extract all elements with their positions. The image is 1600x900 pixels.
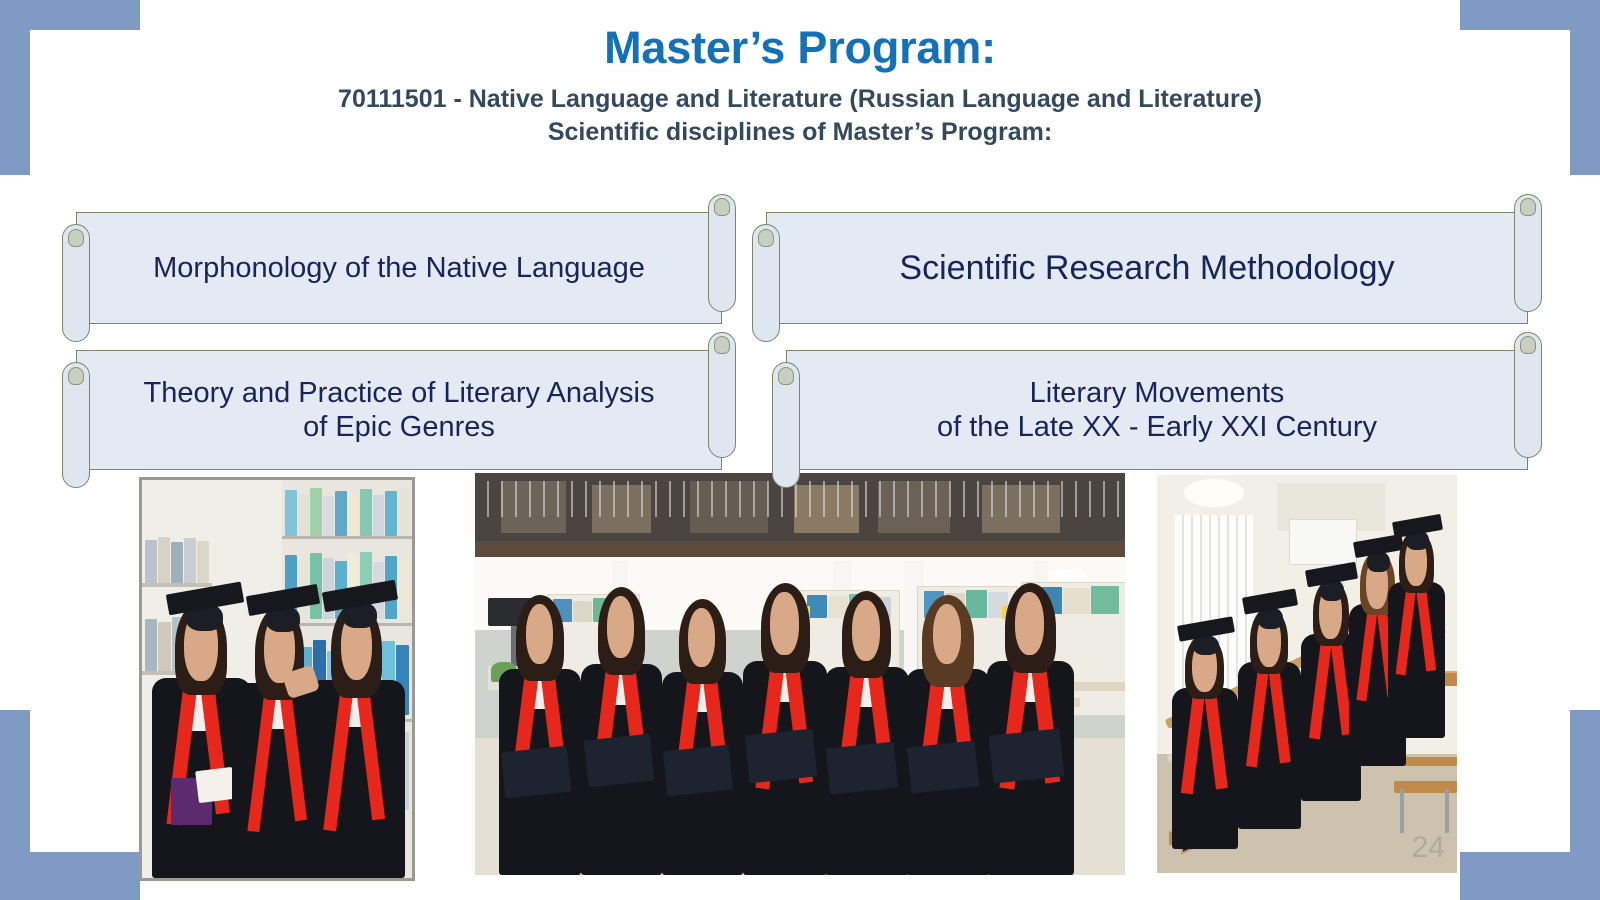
- photo-inner: 24: [1157, 475, 1457, 873]
- corner-bracket-bottom-right: [1460, 710, 1600, 900]
- bracket-bar-vertical: [0, 710, 30, 900]
- scroll-roll-right-icon: [1514, 194, 1542, 312]
- graduate-figure: [742, 578, 830, 875]
- graduate-figure: [904, 590, 992, 875]
- graduate-figure: [498, 590, 583, 875]
- held-mortarboard: [663, 745, 733, 797]
- graduate-figure: [660, 594, 745, 875]
- mortarboard-cap: [323, 582, 397, 628]
- scroll-roll-right-icon: [1514, 332, 1542, 458]
- face: [852, 600, 880, 661]
- graduate-figure: [1169, 618, 1241, 849]
- graduate-figure: [579, 582, 664, 875]
- bench-leg: [1400, 789, 1404, 833]
- mortarboard-cap: [1178, 618, 1234, 655]
- discipline-box-body: Literary Movementsof the Late XX - Early…: [786, 350, 1528, 470]
- shelf-board: [282, 536, 412, 539]
- program-code-subtitle: 70111501 - Native Language and Literatur…: [150, 83, 1450, 116]
- books-row: [145, 536, 210, 584]
- academic-gown: [1238, 662, 1301, 829]
- corner-bracket-top-right: [1460, 0, 1600, 175]
- scroll-roll-right-icon: [708, 332, 736, 458]
- mortarboard-cap: [1243, 590, 1297, 628]
- books-row: [285, 488, 409, 536]
- discipline-label: Scientific Research Methodology: [883, 248, 1410, 288]
- corner-bracket-top-left: [0, 0, 140, 175]
- graduate-figure: [985, 578, 1076, 875]
- corner-bracket-bottom-left: [0, 710, 140, 900]
- academic-gown: [1388, 582, 1446, 738]
- title-block: Master’s Program: 70111501 - Native Lang…: [150, 24, 1450, 149]
- discipline-box-body: Morphonology of the Native Language: [76, 212, 722, 324]
- held-mortarboard: [583, 734, 653, 788]
- graduate-figure: [304, 587, 409, 878]
- graduate-figure: [823, 586, 911, 875]
- face: [770, 592, 798, 654]
- bracket-bar-vertical: [0, 0, 30, 175]
- held-mortarboard: [744, 729, 817, 783]
- face: [526, 604, 553, 664]
- face: [688, 608, 715, 667]
- face: [933, 604, 961, 664]
- discipline-box-morphonology[interactable]: Morphonology of the Native Language: [62, 212, 736, 324]
- held-mortarboard: [988, 729, 1064, 784]
- scroll-roll-left-icon: [62, 224, 90, 342]
- discipline-box-literary-movements[interactable]: Literary Movementsof the Late XX - Early…: [772, 350, 1542, 470]
- scroll-roll-right-icon: [708, 194, 736, 312]
- photo-graduates-library-atrium: [475, 473, 1125, 875]
- held-mortarboard: [826, 741, 899, 794]
- held-mortarboard: [907, 740, 980, 793]
- balcony-railing: [475, 481, 1125, 517]
- graduate-figure: [1235, 590, 1304, 829]
- discipline-label: Morphonology of the Native Language: [137, 251, 661, 285]
- discipline-box-research-methodology[interactable]: Scientific Research Methodology: [752, 212, 1542, 324]
- scroll-roll-left-icon: [752, 224, 780, 342]
- section-label: Scientific disciplines of Master’s Progr…: [150, 116, 1450, 149]
- graduate-figure: [1385, 515, 1448, 738]
- photo-inner: [142, 480, 412, 878]
- scroll-roll-left-icon: [62, 362, 90, 488]
- ceiling-lamp: [1184, 479, 1244, 507]
- bracket-bar-vertical: [1570, 710, 1600, 900]
- academic-gown: [1172, 688, 1238, 850]
- photo-graduates-library-shelves: [139, 477, 415, 881]
- page-title: Master’s Program:: [150, 24, 1450, 71]
- bench-leg: [1445, 789, 1449, 833]
- mortarboard-cap: [1393, 515, 1442, 551]
- photo-inner: [475, 473, 1125, 875]
- held-mortarboard: [501, 746, 571, 798]
- slide-number: 24: [1412, 831, 1445, 865]
- discipline-label: Literary Movementsof the Late XX - Early…: [921, 376, 1393, 444]
- discipline-label: Theory and Practice of Literary Analysis…: [128, 376, 671, 444]
- slide-canvas: Master’s Program: 70111501 - Native Lang…: [0, 0, 1600, 900]
- face: [607, 596, 634, 658]
- scroll-roll-left-icon: [772, 362, 800, 488]
- cap-board: [1392, 513, 1443, 537]
- discipline-box-literary-analysis[interactable]: Theory and Practice of Literary Analysis…: [62, 350, 736, 470]
- bracket-bar-vertical: [1570, 0, 1600, 175]
- discipline-box-body: Scientific Research Methodology: [766, 212, 1528, 324]
- discipline-box-body: Theory and Practice of Literary Analysis…: [76, 350, 722, 470]
- face: [1015, 592, 1044, 654]
- photo-graduates-staircase: 24: [1157, 475, 1457, 873]
